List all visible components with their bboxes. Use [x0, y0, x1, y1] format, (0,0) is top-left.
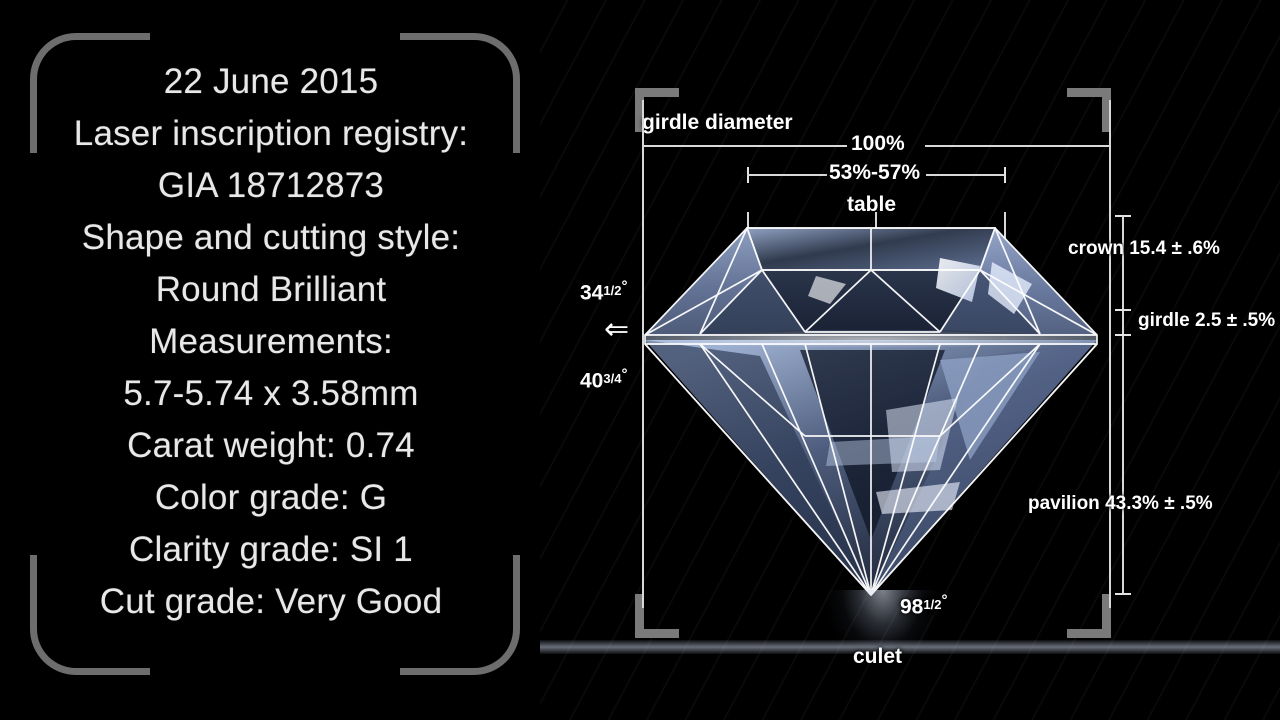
- culet-label: culet: [853, 645, 902, 669]
- pavilion-dim-line: [1122, 336, 1124, 594]
- diagram-corner-top-right: [1067, 88, 1111, 132]
- pavilion-label: pavilion 43.3% ± .5%: [1028, 493, 1213, 515]
- table-percent-label: 53%-57%: [829, 161, 920, 185]
- crown-angle-fraction: 1/2: [603, 284, 621, 297]
- girdle-diameter-label: girdle diameter: [642, 111, 793, 135]
- table-dim-line-right: [926, 174, 1005, 176]
- crown-angle-value: 34: [580, 281, 603, 304]
- certificate-line-carat: Carat weight: 0.74: [40, 420, 502, 472]
- certificate-line-date: 22 June 2015: [40, 56, 502, 108]
- table-dim-line-left: [747, 174, 827, 176]
- certificate-line-measurements-value: 5.7-5.74 x 3.58mm: [40, 368, 502, 420]
- total-width-label: 100%: [851, 132, 905, 156]
- certificate-text-block: 22 June 2015 Laser inscription registry:…: [40, 56, 502, 628]
- pavilion-angle-value: 40: [580, 369, 603, 392]
- certificate-line-clarity: Clarity grade: SI 1: [40, 524, 502, 576]
- pavilion-angle-degree: °: [621, 366, 627, 383]
- certificate-line-color: Color grade: G: [40, 472, 502, 524]
- diamond-proportions-diagram: girdle diameter 100% 53%-57% table: [540, 0, 1280, 720]
- certificate-line-shape-label: Shape and cutting style:: [40, 212, 502, 264]
- culet-angle-value: 98: [900, 595, 923, 618]
- diamond-svg: [640, 210, 1102, 605]
- pavilion-angle-fraction: 3/4: [603, 372, 621, 385]
- certificate-line-cut: Cut grade: Very Good: [40, 576, 502, 628]
- crown-angle-label: 341/2°: [580, 278, 628, 305]
- crown-label: crown 15.4 ± .6%: [1068, 238, 1220, 260]
- crown-angle-degree: °: [621, 278, 627, 295]
- diamond-illustration: [640, 210, 1102, 605]
- girdle-dim-line: [1122, 311, 1124, 335]
- screenshot-root: 22 June 2015 Laser inscription registry:…: [0, 0, 1280, 720]
- pavilion-angle-label: 403/4°: [580, 366, 628, 393]
- crown-dim-line: [1122, 215, 1124, 310]
- pavilion-dim-tick-bottom: [1115, 593, 1131, 595]
- width-dim-line-left: [642, 145, 847, 147]
- culet-angle-degree: °: [941, 592, 947, 609]
- culet-reflection-bar: [540, 640, 1280, 654]
- culet-angle-fraction: 1/2: [923, 598, 941, 611]
- certificate-line-shape-value: Round Brilliant: [40, 264, 502, 316]
- certificate-info-panel: 22 June 2015 Laser inscription registry:…: [0, 0, 540, 720]
- certificate-line-laser-label: Laser inscription registry:: [40, 108, 502, 160]
- girdle-label: girdle 2.5 ± .5%: [1138, 310, 1275, 332]
- width-extension-right: [1109, 100, 1111, 608]
- certificate-line-measurements-label: Measurements:: [40, 316, 502, 368]
- culet-angle-label: 981/2°: [900, 592, 948, 619]
- table-dim-tick-right: [1004, 167, 1006, 183]
- width-dim-line-right: [925, 145, 1110, 147]
- certificate-line-gia-number: GIA 18712873: [40, 160, 502, 212]
- angle-arrow-icon: ⇐: [604, 315, 629, 345]
